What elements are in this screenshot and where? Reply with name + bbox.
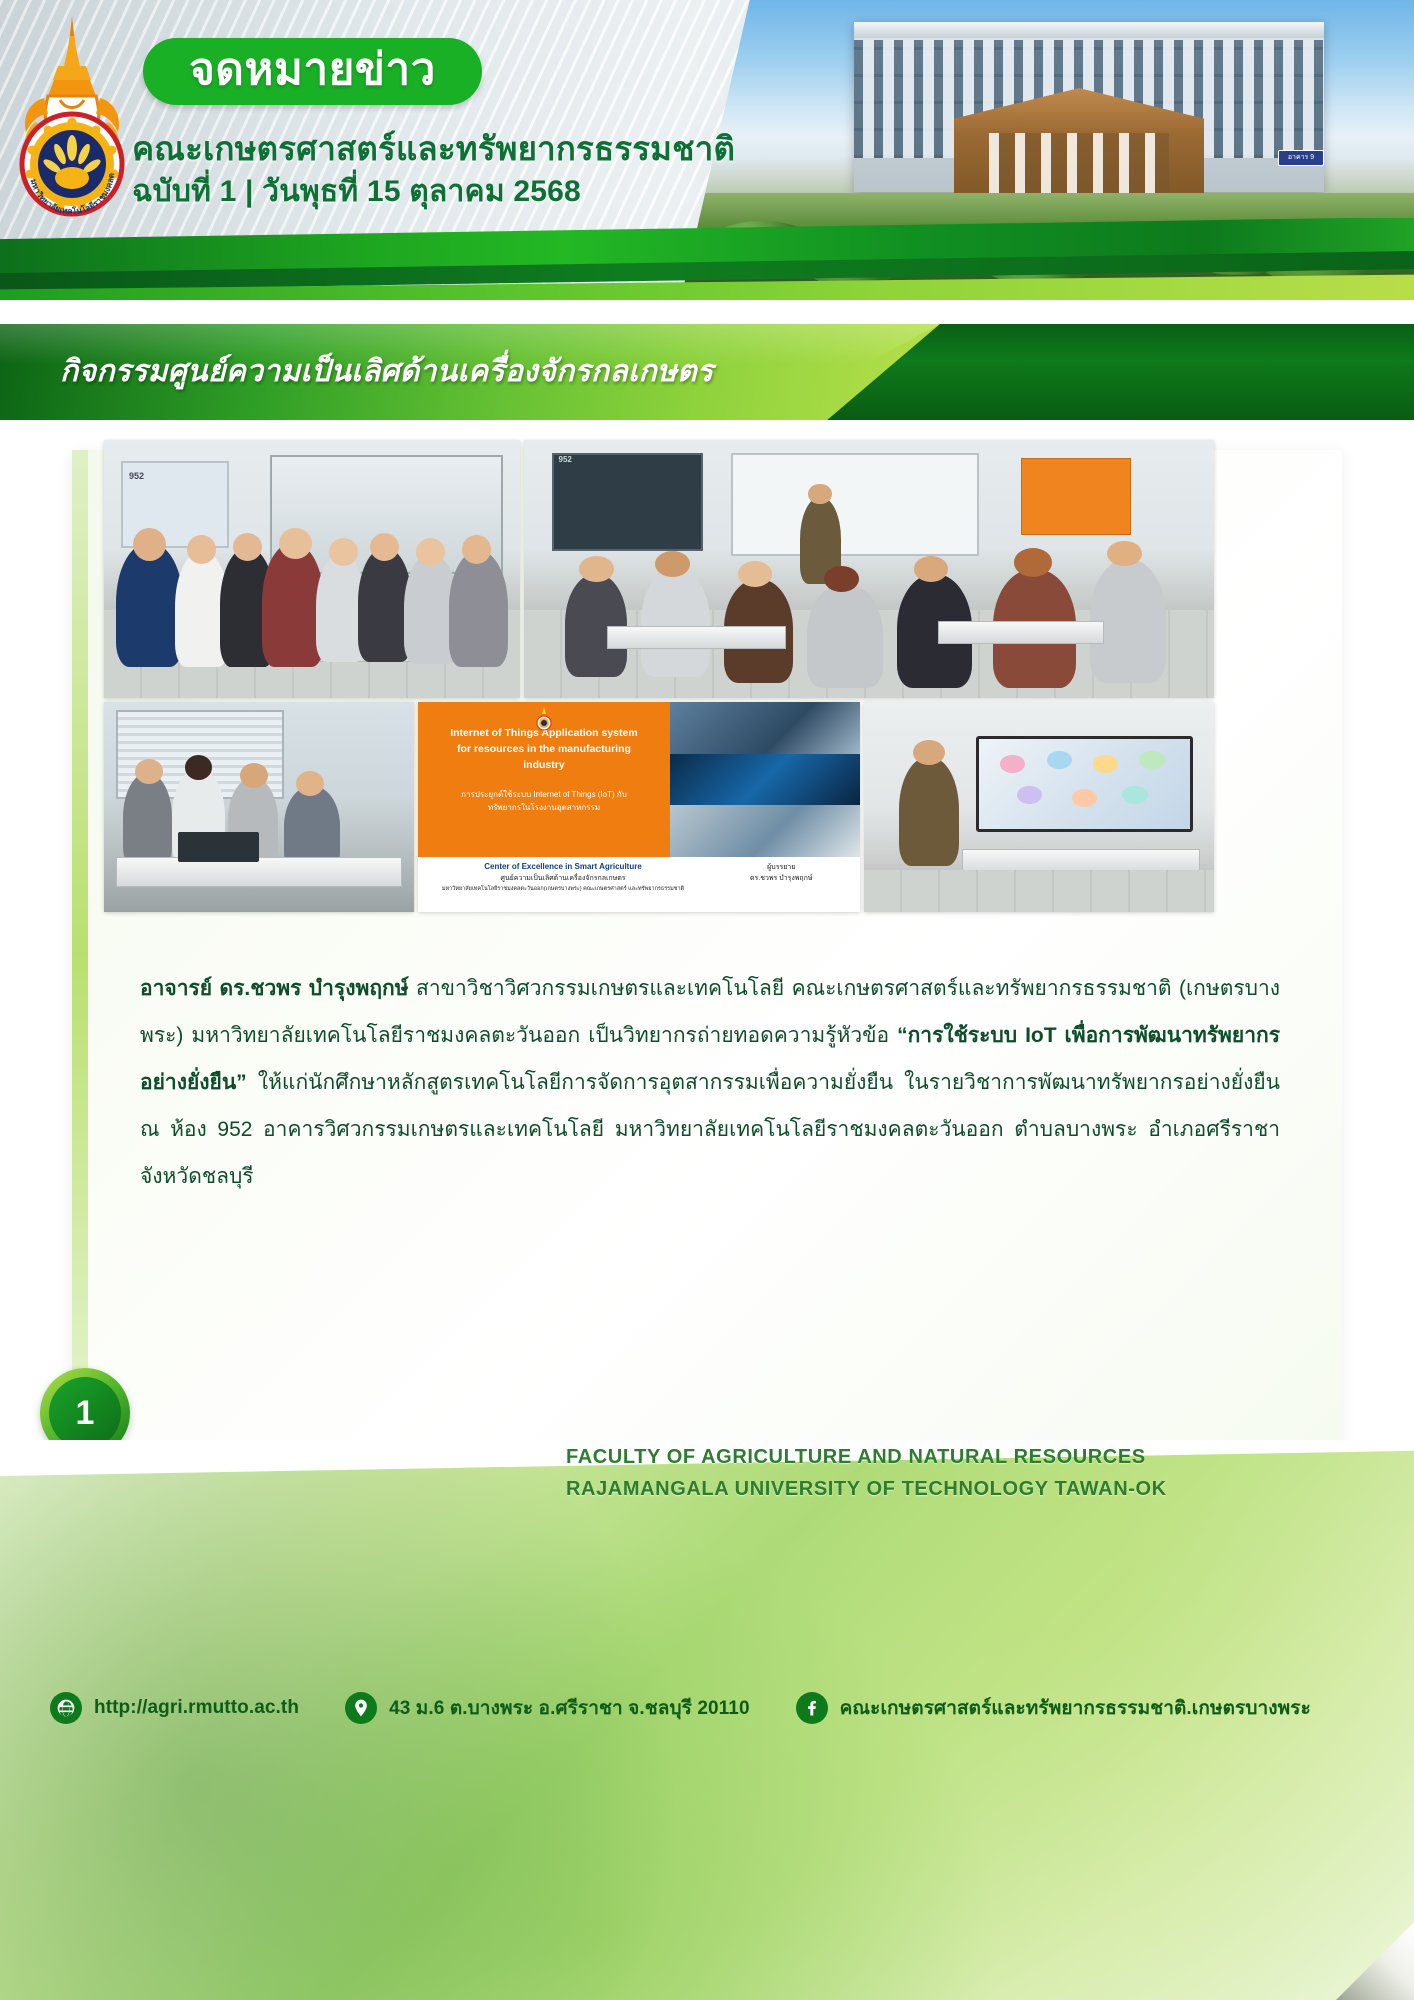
student-4 [807, 584, 883, 687]
page-header: คณะเกษตรศาสตร์และทรัพยากรธรรมชาติ FACULT… [0, 0, 1414, 300]
newsletter-page: คณะเกษตรศาสตร์และทรัพยากรธรรมชาติ FACULT… [0, 0, 1414, 2000]
facebook-icon [796, 1692, 828, 1724]
presenter-head-5 [913, 740, 945, 765]
student-b-head [185, 755, 213, 780]
footer-website[interactable]: http://agri.rmutto.ac.th [94, 1697, 299, 1719]
student-2-head [655, 551, 690, 577]
student-a [123, 773, 173, 865]
footer-faculty-en: FACULTY OF AGRICULTURE AND NATURAL RESOU… [566, 1446, 1146, 1469]
person-4 [262, 543, 324, 667]
location-pin-icon [345, 1692, 377, 1724]
student-2 [641, 569, 710, 677]
footer-contact-row: http://agri.rmutto.ac.th 43 ม.6 ต.บางพระ… [50, 1692, 1311, 1724]
screen-node-7 [1122, 786, 1147, 804]
presenter-body [899, 757, 959, 866]
slide-speaker-info: ผู้บรรยาย ดร.ชวพร บำรุงพฤกษ์ [711, 863, 852, 884]
issue-date-line: ฉบับที่ 1 | วันพุธที่ 15 ตุลาคม 2568 [132, 168, 581, 215]
building-plaque: อาคาร 9 [1278, 150, 1324, 166]
slide-center-info: Center of Excellence in Smart Agricultur… [426, 861, 700, 895]
header-ribbon-decoration [0, 218, 1414, 300]
photo-gallery: 952 952 [104, 440, 1214, 920]
slide-frame: Internet of Things Application system fo… [418, 702, 860, 912]
article-segment-2: ให้แก่นักศึกษาหลักสูตรเทคโนโลยีการจัดการ… [140, 1071, 1280, 1188]
screen-node-2 [1047, 751, 1072, 769]
slide-photo-strip [670, 702, 860, 857]
section-title: กิจกรรมศูนย์ความเป็นเลิศด้านเครื่องจักรก… [60, 348, 713, 395]
section-banner: กิจกรรมศูนย์ความเป็นเลิศด้านเครื่องจักรก… [0, 318, 1414, 428]
window-dark [552, 453, 704, 551]
slide-footer: Center of Excellence in Smart Agricultur… [418, 857, 860, 912]
presenter-head [808, 484, 831, 505]
footer-address: 43 ม.6 ต.บางพระ อ.ศรีราชา จ.ชลบุรี 20110 [389, 1693, 750, 1723]
person-5-head [329, 538, 358, 566]
slide-title-en-3: industry [428, 758, 660, 772]
screen-node-3 [1093, 755, 1118, 773]
slide-center-en: Center of Excellence in Smart Agricultur… [484, 862, 642, 871]
newsletter-badge: จดหมายข่าว [143, 38, 482, 105]
work-desk [116, 857, 401, 886]
floor-5 [864, 870, 1214, 912]
person-2-head [187, 535, 216, 563]
slide-photo-factory-1 [670, 702, 860, 754]
slide-center-th-2: มหาวิทยาลัยเทคโนโลยีราชมงคลตะวันออก(เกษต… [442, 886, 684, 892]
footer-facebook[interactable]: คณะเกษตรศาสตร์และทรัพยากรธรรมชาติ.เกษตรบ… [840, 1693, 1311, 1723]
photo-group-lecturer-students: 952 [104, 440, 520, 698]
article-paragraph: อาจารย์ ดร.ชวพร บำรุงพฤกษ์ สาขาวิชาวิศวก… [140, 965, 1280, 1200]
page-footer: FACULTY OF AGRICULTURE AND NATURAL RESOU… [0, 1440, 1414, 2000]
content-card-left-accent [72, 450, 88, 1460]
student-4-head [824, 566, 859, 592]
person-3-head [233, 533, 262, 561]
newsletter-badge-label: จดหมายข่าว [189, 45, 436, 94]
screen-node-5 [1017, 786, 1042, 804]
student-6-head [1014, 548, 1052, 576]
room-number-label-2: 952 [559, 455, 572, 464]
person-8 [449, 551, 507, 667]
photo-iot-slide: Internet of Things Application system fo… [418, 702, 860, 912]
desk-row-2 [938, 621, 1104, 644]
page-number-inner-circle: 1 [49, 1377, 121, 1449]
student-a-head [135, 759, 163, 784]
photo-presenter-display [864, 702, 1214, 912]
slide-photo-factory-2 [670, 754, 860, 806]
laptop [178, 832, 259, 861]
slide-speaker-label: ผู้บรรยาย [767, 864, 795, 871]
footer-university-en: RAJAMANGALA UNIVERSITY OF TECHNOLOGY TAW… [566, 1478, 1167, 1501]
person-4-head [279, 528, 312, 559]
whiteboard [731, 453, 979, 556]
slide-university-seal [534, 706, 554, 732]
student-7-head [1107, 541, 1142, 567]
slide-title-en-2: for resources in the manufacturing [428, 742, 660, 756]
wall-poster [1021, 458, 1131, 535]
slide-speaker-name: ดร.ชวพร บำรุงพฤกษ์ [750, 875, 813, 882]
screen-node-1 [1000, 755, 1025, 773]
person-1 [116, 543, 183, 667]
slide-photo-factory-3 [670, 805, 860, 857]
student-5-head [914, 556, 949, 582]
desk-row-1 [607, 626, 786, 649]
photo-students-workshop [104, 702, 414, 912]
article-lead-name: อาจารย์ ดร.ชวพร บำรุงพฤกษ์ [140, 977, 409, 1000]
slide-title-th-1: การประยุกต์ใช้ระบบ Internet of Things (I… [428, 789, 660, 800]
page-number-value: 1 [76, 1394, 95, 1433]
slide-title-th-2: ทรัพยากรในโรงงานอุตสาหกรรม [428, 802, 660, 813]
room-number-label: 952 [129, 471, 144, 481]
person-8-head [462, 535, 491, 563]
university-seal-logo: มหาวิทยาลัยเทคโนโลยีราชมงคลตะวันออก [14, 14, 130, 224]
student-1-head [579, 556, 614, 582]
slide-title-panel: Internet of Things Application system fo… [418, 702, 670, 857]
globe-icon [50, 1692, 82, 1724]
photo-classroom-lecture: 952 [524, 440, 1214, 698]
screen-node-6 [1072, 789, 1097, 807]
slide-center-th-1: ศูนย์ความเป็นเลิศด้านเครื่องจักรกลเกษตร [500, 875, 625, 882]
display-screen [976, 736, 1193, 833]
screen-node-4 [1139, 751, 1164, 769]
